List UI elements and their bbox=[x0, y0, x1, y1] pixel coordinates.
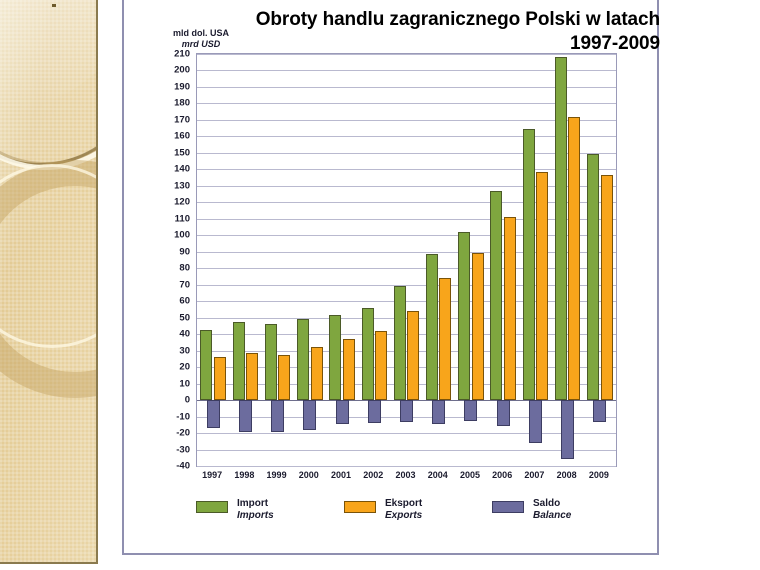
bar-export bbox=[536, 172, 548, 400]
bar-import bbox=[297, 319, 309, 400]
bar-export bbox=[278, 355, 290, 400]
decorative-sidebar bbox=[0, 0, 98, 564]
decorative-ring-mid-highlight bbox=[0, 164, 98, 348]
x-axis-label-2006: 2006 bbox=[492, 470, 512, 480]
x-axis-label-2001: 2001 bbox=[331, 470, 351, 480]
page-title: Obroty handlu zagranicznego Polski w lat… bbox=[240, 8, 660, 57]
legend-label-en: Imports bbox=[237, 510, 274, 522]
bar-group bbox=[390, 54, 422, 466]
x-axis-label-2007: 2007 bbox=[524, 470, 544, 480]
y-axis-tick-label: 210 bbox=[174, 49, 190, 60]
y-axis-ticks: 2102001901801701601501401301201101009080… bbox=[136, 53, 194, 467]
x-axis-label-2008: 2008 bbox=[557, 470, 577, 480]
legend-item-export[interactable]: EksportExports bbox=[344, 498, 422, 522]
legend-label-export: EksportExports bbox=[385, 498, 422, 522]
bar-import bbox=[329, 315, 341, 400]
bar-balance bbox=[271, 400, 284, 432]
decorative-ring-large bbox=[0, 0, 98, 170]
decorative-dot bbox=[52, 4, 56, 7]
y-axis-tick-label: 110 bbox=[175, 213, 190, 224]
bar-import bbox=[200, 330, 212, 400]
bar-import bbox=[523, 129, 535, 400]
y-axis-tick-label: -10 bbox=[176, 411, 190, 422]
legend-label-pl: Saldo bbox=[533, 498, 571, 510]
bar-import bbox=[362, 308, 374, 400]
bar-balance bbox=[464, 400, 477, 421]
bar-group bbox=[455, 54, 487, 466]
y-axis-tick-label: 190 bbox=[174, 81, 190, 92]
bar-balance bbox=[336, 400, 349, 424]
x-axis-label-2005: 2005 bbox=[460, 470, 480, 480]
bar-export bbox=[504, 217, 516, 400]
bar-balance bbox=[432, 400, 445, 424]
bar-import bbox=[555, 57, 567, 400]
bar-balance bbox=[497, 400, 510, 426]
y-axis-tick-label: 150 bbox=[174, 147, 190, 158]
y-axis-tick-label: 70 bbox=[179, 279, 190, 290]
bar-balance bbox=[400, 400, 413, 422]
bar-group bbox=[229, 54, 261, 466]
bar-group bbox=[519, 54, 551, 466]
legend-label-en: Balance bbox=[533, 510, 571, 522]
x-axis-label-2000: 2000 bbox=[299, 470, 319, 480]
gridline bbox=[197, 466, 616, 467]
y-axis-tick-label: 170 bbox=[174, 114, 190, 125]
bar-group bbox=[261, 54, 293, 466]
bars-layer bbox=[197, 54, 616, 466]
legend-swatch-balance bbox=[492, 501, 524, 513]
bar-export bbox=[407, 311, 419, 400]
bar-balance bbox=[561, 400, 574, 459]
legend-item-import[interactable]: ImportImports bbox=[196, 498, 274, 522]
bar-group bbox=[358, 54, 390, 466]
bar-export bbox=[311, 347, 323, 400]
bar-group bbox=[487, 54, 519, 466]
bar-group bbox=[294, 54, 326, 466]
bar-balance bbox=[529, 400, 542, 443]
bar-export bbox=[472, 253, 484, 400]
y-axis-tick-label: 130 bbox=[174, 180, 190, 191]
x-axis-label-1997: 1997 bbox=[202, 470, 222, 480]
legend-label-pl: Import bbox=[237, 498, 274, 510]
x-axis-label-2003: 2003 bbox=[395, 470, 415, 480]
y-axis-tick-label: 100 bbox=[174, 230, 190, 241]
bar-group bbox=[423, 54, 455, 466]
bar-import bbox=[394, 286, 406, 400]
bar-import bbox=[587, 154, 599, 400]
legend-swatch-import bbox=[196, 501, 228, 513]
legend-item-balance[interactable]: SaldoBalance bbox=[492, 498, 571, 522]
bar-group bbox=[326, 54, 358, 466]
bar-balance bbox=[239, 400, 252, 432]
y-axis-tick-label: -40 bbox=[176, 461, 190, 472]
y-axis-tick-label: 10 bbox=[179, 378, 190, 389]
bar-balance bbox=[207, 400, 220, 428]
bar-group bbox=[197, 54, 229, 466]
x-axis-label-1998: 1998 bbox=[234, 470, 254, 480]
x-axis-label-1999: 1999 bbox=[267, 470, 287, 480]
y-axis-tick-label: 60 bbox=[179, 296, 190, 307]
bar-export bbox=[439, 278, 451, 400]
bar-import bbox=[233, 322, 245, 400]
bar-import bbox=[490, 191, 502, 400]
bar-export bbox=[601, 175, 613, 400]
y-axis-tick-label: 160 bbox=[174, 131, 190, 142]
y-axis-tick-label: 20 bbox=[179, 362, 190, 373]
y-axis-tick-label: 120 bbox=[174, 197, 190, 208]
bar-group bbox=[584, 54, 616, 466]
legend-label-import: ImportImports bbox=[237, 498, 274, 522]
x-axis-label-2004: 2004 bbox=[428, 470, 448, 480]
y-axis-tick-label: 90 bbox=[179, 246, 190, 257]
x-axis-label-2002: 2002 bbox=[363, 470, 383, 480]
plot-area bbox=[196, 53, 617, 467]
y-axis-tick-label: 0 bbox=[185, 395, 190, 406]
x-axis-label-2009: 2009 bbox=[589, 470, 609, 480]
bar-export bbox=[246, 353, 258, 400]
legend-label-en: Exports bbox=[385, 510, 422, 522]
legend-label-balance: SaldoBalance bbox=[533, 498, 571, 522]
bar-balance bbox=[593, 400, 606, 421]
chart-card: mld dol. USA mrd USD 2102001901801701601… bbox=[136, 8, 650, 543]
chart-legend: ImportImportsEksportExportsSaldoBalance bbox=[196, 498, 636, 534]
bar-export bbox=[343, 339, 355, 400]
y-axis-tick-label: -20 bbox=[176, 428, 190, 439]
y-axis-tick-label: 200 bbox=[174, 65, 190, 76]
bar-import bbox=[426, 254, 438, 400]
y-axis-tick-label: 30 bbox=[179, 345, 190, 356]
bar-import bbox=[458, 232, 470, 400]
bar-export bbox=[568, 117, 580, 400]
y-axis-tick-label: 140 bbox=[174, 164, 190, 175]
y-axis-tick-label: 50 bbox=[179, 312, 190, 323]
bar-import bbox=[265, 324, 277, 400]
y-axis-tick-label: 80 bbox=[179, 263, 190, 274]
y-axis-tick-label: 180 bbox=[174, 98, 190, 109]
bar-balance bbox=[303, 400, 316, 430]
x-axis-labels: 1997199819992000200120022003200420052006… bbox=[196, 470, 615, 486]
bar-export bbox=[375, 331, 387, 400]
legend-swatch-export bbox=[344, 501, 376, 513]
bar-balance bbox=[368, 400, 381, 423]
legend-label-pl: Eksport bbox=[385, 498, 422, 510]
y-axis-tick-label: 40 bbox=[179, 329, 190, 340]
bar-group bbox=[552, 54, 584, 466]
y-axis-tick-label: -30 bbox=[176, 444, 190, 455]
bar-export bbox=[214, 357, 226, 400]
